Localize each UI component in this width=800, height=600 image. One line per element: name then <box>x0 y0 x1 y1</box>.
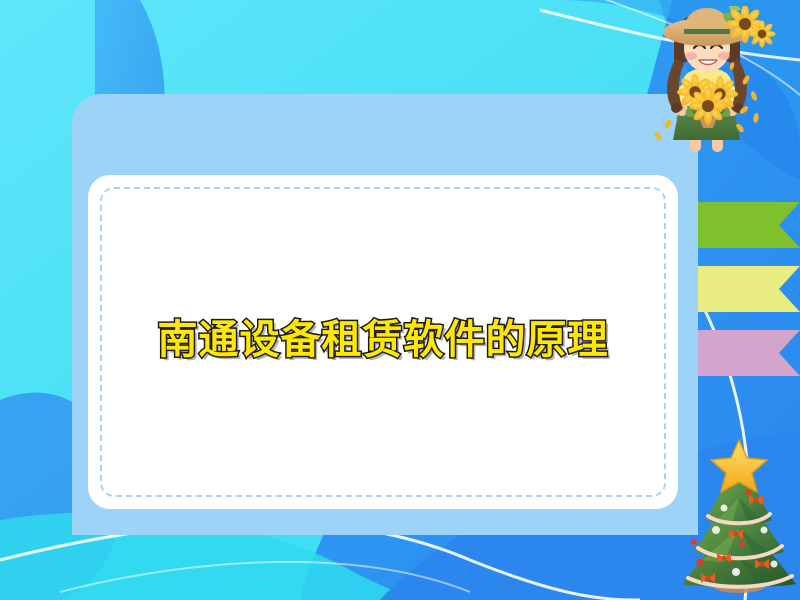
title-container: 南通设备租赁软件的原理 <box>88 175 678 509</box>
girl-with-sunflowers-icon <box>628 6 790 176</box>
slide-canvas: 南通设备租赁软件的原理 <box>0 0 800 600</box>
christmas-tree-icon <box>678 438 800 600</box>
page-title: 南通设备租赁软件的原理 <box>158 307 609 365</box>
